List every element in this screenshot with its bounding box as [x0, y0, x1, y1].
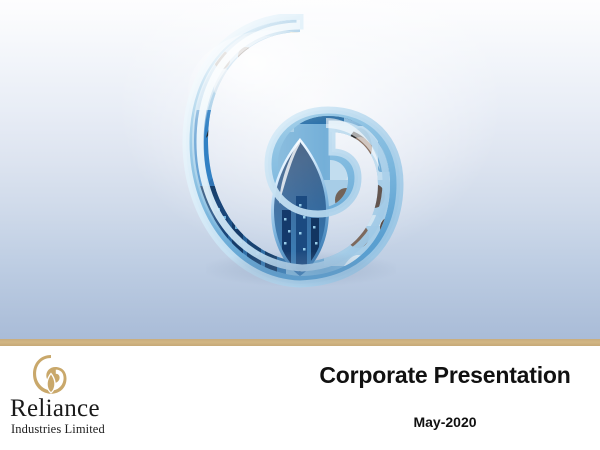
reliance-r-emblem: [178, 14, 422, 290]
brand-name: Reliance: [8, 395, 188, 422]
brand-tagline: Industries Limited: [8, 422, 188, 436]
presentation-title: Corporate Presentation: [300, 362, 590, 388]
reliance-brand-lockup: Reliance Industries Limited: [8, 354, 188, 436]
title-slide: Reliance Industries Limited Corporate Pr…: [0, 0, 600, 450]
emblem-body: [178, 14, 422, 290]
presentation-date: May-2020: [300, 414, 590, 430]
slide-background: [0, 0, 600, 340]
reliance-flame-r-icon: [30, 354, 72, 394]
gold-divider: [0, 339, 600, 346]
slide-footer: Reliance Industries Limited Corporate Pr…: [0, 346, 600, 450]
